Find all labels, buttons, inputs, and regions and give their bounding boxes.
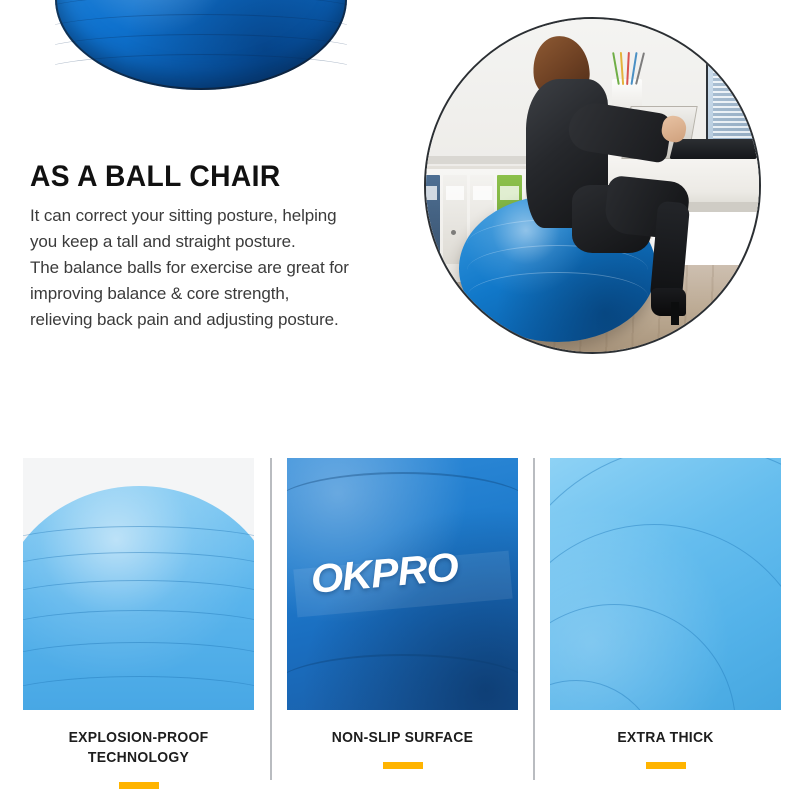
description-line: It can correct your sitting posture, hel…: [30, 203, 390, 229]
feature-divider: [270, 458, 272, 780]
hero-photo-circle: [424, 17, 761, 354]
shin: [650, 201, 690, 301]
description-line: relieving back pain and adjusting postur…: [30, 307, 390, 333]
ball-surface-horizontal-ridges: [23, 486, 254, 710]
feature-label-line: TECHNOLOGY: [31, 748, 246, 768]
feature-label-non-slip: NON-SLIP SURFACE: [295, 728, 510, 748]
page-title: AS A BALL CHAIR: [30, 160, 281, 194]
description-line: improving balance & core strength,: [30, 281, 390, 307]
description-line: The balance balls for exercise are great…: [30, 255, 390, 281]
feature-label-extra-thick: EXTRA THICK: [558, 728, 773, 748]
feature-divider: [533, 458, 535, 780]
feature-label-line: EXPLOSION-PROOF: [31, 728, 246, 748]
shoe-heel: [671, 302, 678, 325]
feature-image-extra-thick: [550, 458, 781, 710]
feature-card-non-slip[interactable]: OKPRO NON-SLIP SURFACE: [287, 458, 518, 769]
office-scene: [426, 19, 759, 352]
hero-description: It can correct your sitting posture, hel…: [30, 203, 390, 333]
feature-label-explosion-proof: EXPLOSION-PROOF TECHNOLOGY: [31, 728, 246, 768]
feature-label-line: EXTRA THICK: [558, 728, 773, 748]
accent-bar: [119, 782, 159, 789]
binder: [424, 175, 440, 263]
accent-bar: [646, 762, 686, 769]
ridge-line: [287, 654, 518, 710]
feature-card-explosion-proof[interactable]: EXPLOSION-PROOF TECHNOLOGY: [23, 458, 254, 789]
top-ball-crop-image: [55, 0, 347, 90]
ball-surface-concentric-rings: [550, 458, 781, 710]
description-line: you keep a tall and straight posture.: [30, 229, 390, 255]
seated-woman: [513, 36, 699, 322]
feature-image-non-slip: OKPRO: [287, 458, 518, 710]
feature-card-extra-thick[interactable]: EXTRA THICK: [550, 458, 781, 769]
ball-surface-okpro-logo: OKPRO: [287, 458, 518, 710]
feature-image-explosion-proof: [23, 458, 254, 710]
ridge-line: [287, 472, 518, 538]
shoe: [651, 288, 686, 317]
ring-line: [550, 458, 781, 710]
feature-label-line: NON-SLIP SURFACE: [295, 728, 510, 748]
accent-bar: [383, 762, 423, 769]
ridge-line: [23, 676, 254, 710]
